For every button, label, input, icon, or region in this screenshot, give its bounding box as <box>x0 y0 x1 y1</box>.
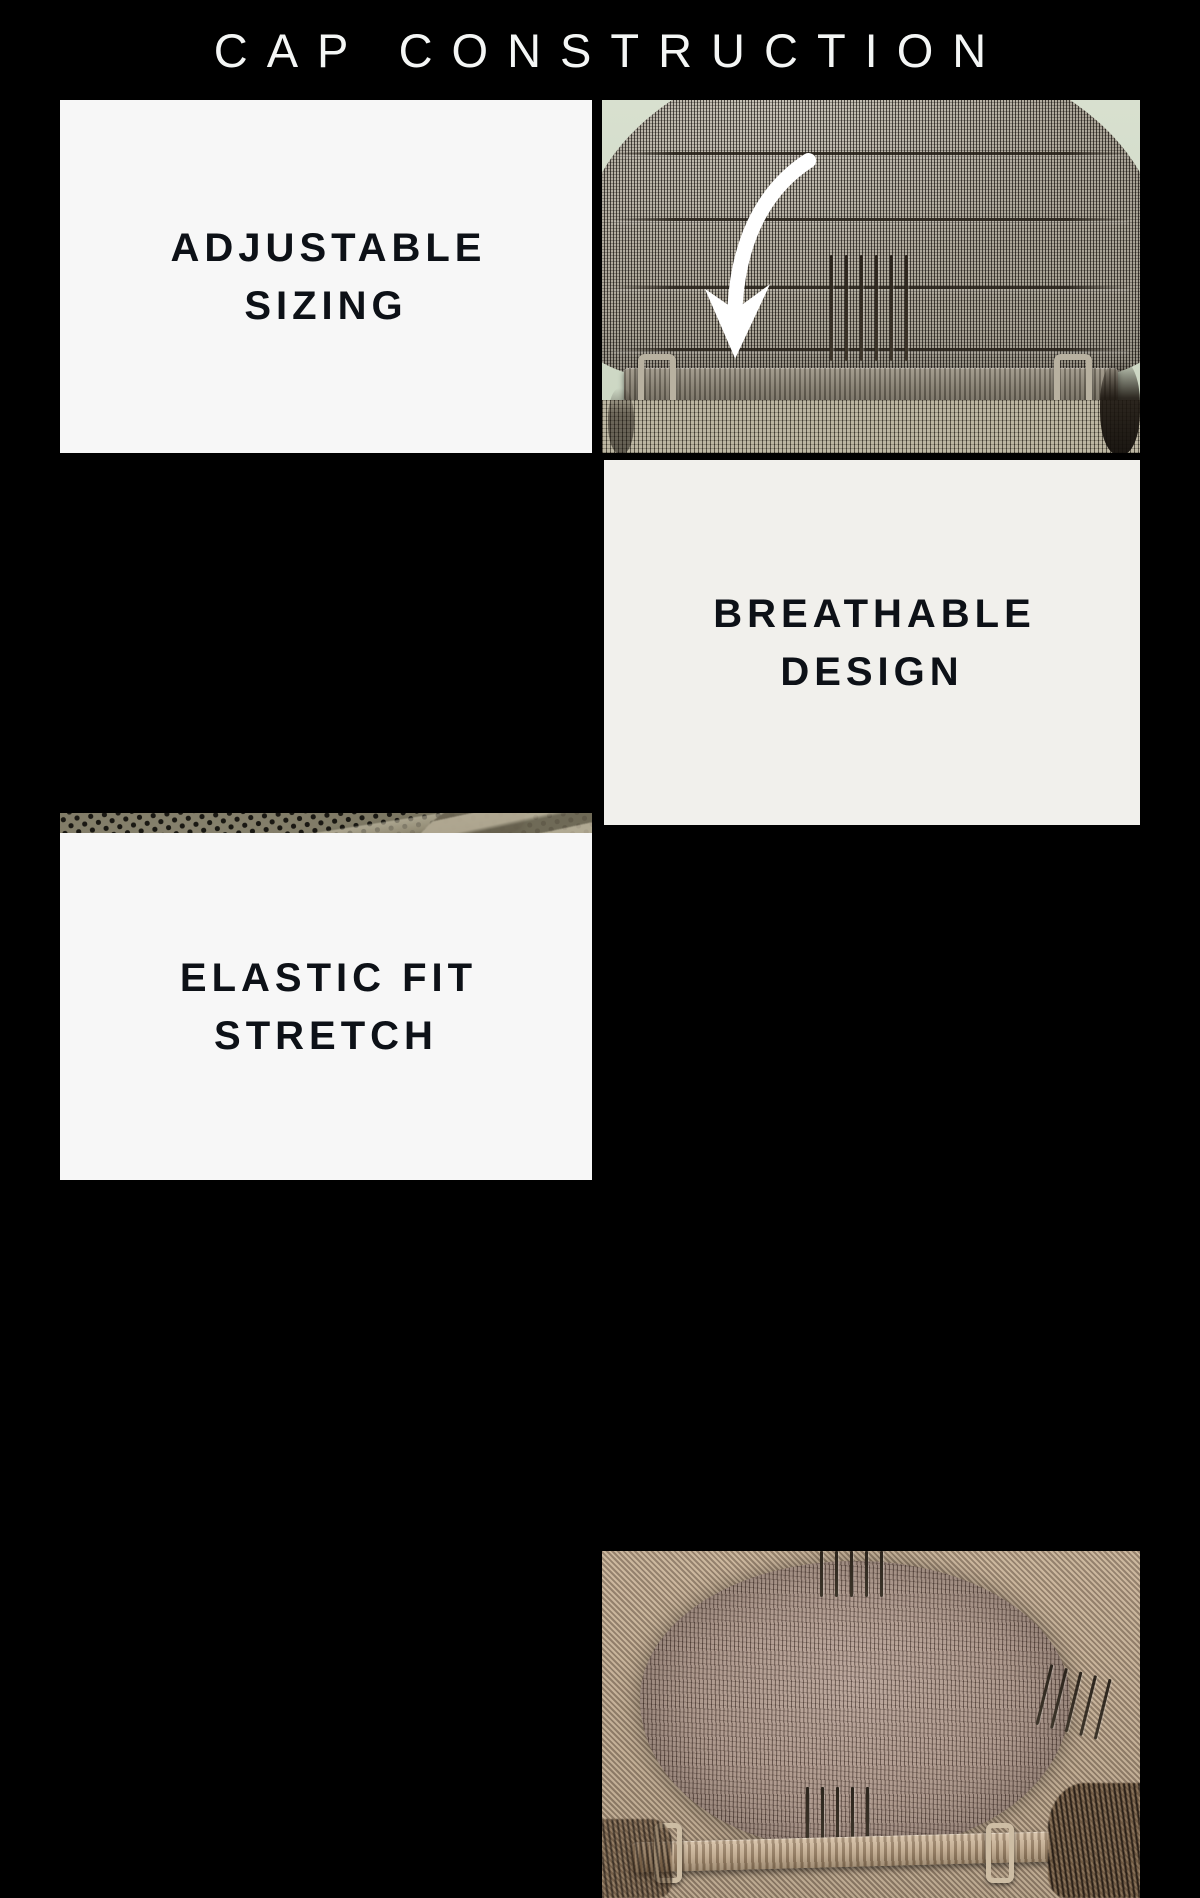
feature-panel-elastic-fit-stretch: ELASTIC FIT STRETCH <box>60 833 592 1180</box>
photo-wig-cap-interior-elastic <box>602 1551 1140 1898</box>
feature-label-line-1: ADJUSTABLE <box>171 226 487 270</box>
photo-wig-cap-back-adjustable-straps <box>602 100 1140 453</box>
curved-down-arrow-icon <box>667 142 850 375</box>
feature-label-line-2: STRETCH <box>214 1014 438 1058</box>
feature-panel-adjustable-sizing: ADJUSTABLE SIZING <box>60 100 592 453</box>
feature-label-line-2: DESIGN <box>780 650 963 694</box>
cap-interior-comb-bottom-icon <box>806 1787 869 1839</box>
elastic-buckle-right-icon <box>986 1823 1014 1883</box>
feature-label-elastic-fit-stretch: ELASTIC FIT STRETCH <box>157 949 495 1065</box>
hair-strand <box>1048 1783 1140 1898</box>
feature-label-breathable-design: BREATHABLE DESIGN <box>690 585 1054 701</box>
feature-panel-breathable-design: BREATHABLE DESIGN <box>604 460 1140 825</box>
feature-label-line-2: SIZING <box>244 284 407 328</box>
page-title: CAP CONSTRUCTION <box>195 27 1005 74</box>
cap-lower-mesh-skirt <box>602 400 1140 453</box>
feature-label-adjustable-sizing: ADJUSTABLE SIZING <box>148 219 505 335</box>
hair-strand <box>608 388 634 453</box>
cap-interior-comb-top-icon <box>820 1551 883 1597</box>
hair-strand <box>1100 360 1140 453</box>
header-bar: CAP CONSTRUCTION <box>0 0 1200 100</box>
hair-strand <box>602 1819 672 1898</box>
feature-label-line-1: ELASTIC FIT <box>180 956 477 1000</box>
cap-construction-infographic: CAP CONSTRUCTION ADJUSTABLE SIZING <box>0 0 1200 1200</box>
feature-label-line-1: BREATHABLE <box>713 592 1036 636</box>
